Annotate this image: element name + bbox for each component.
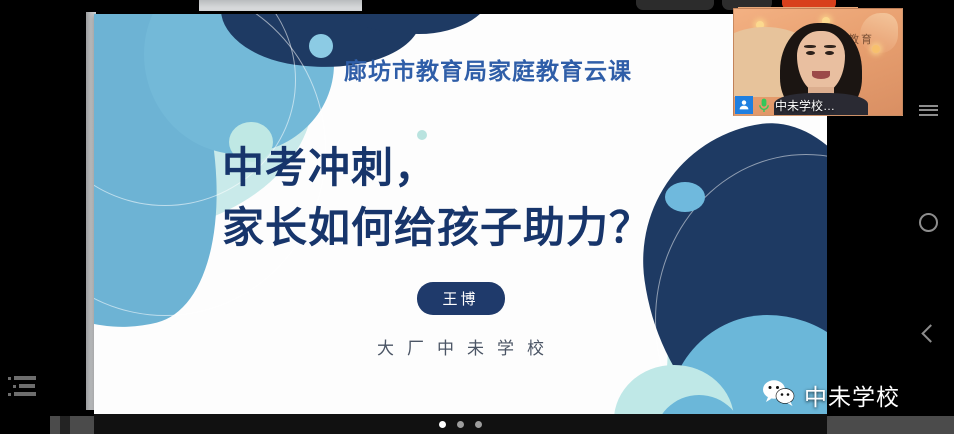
home-icon[interactable] — [913, 207, 943, 237]
presenter-eye-left — [806, 51, 815, 55]
presenter-brow-right — [824, 45, 836, 48]
slide-main-title: 中考冲刺， 家长如何给孩子助力？ — [222, 138, 652, 257]
screen-root: 廊坊市教育局家庭教育云课 中考冲刺， 家长如何给孩子助力？ 王博 大厂中未学校 … — [0, 0, 954, 434]
presentation-slide[interactable]: 廊坊市教育局家庭教育云课 中考冲刺， 家长如何给孩子助力？ 王博 大厂中未学校 — [94, 14, 827, 415]
decor-dot-blue-2 — [665, 182, 705, 212]
school-name: 大厂中未学校 — [364, 334, 557, 359]
person-icon — [735, 96, 753, 114]
recents-icon[interactable] — [913, 95, 943, 125]
slide-canvas: 廊坊市教育局家庭教育云课 中考冲刺， 家长如何给孩子助力？ 王博 大厂中未学校 — [94, 14, 827, 415]
pip-participant-name: 中未学校… — [775, 97, 835, 114]
microphone-icon — [756, 96, 772, 114]
bottom-toolbar-handle[interactable] — [60, 416, 70, 434]
presenter-brow-left — [804, 45, 816, 48]
watermark-label: 中未学校 — [804, 378, 900, 412]
pagination-dot-3[interactable] — [475, 421, 482, 428]
pagination-dot-2[interactable] — [457, 421, 464, 428]
chrome-button-1[interactable] — [636, 0, 714, 10]
wechat-icon — [762, 379, 796, 412]
watermark: 中未学校 — [762, 378, 900, 412]
speaker-name-badge: 王博 — [416, 282, 504, 315]
slide-header-title: 廊坊市教育局家庭教育云课 — [94, 52, 827, 86]
android-nav-bar — [902, 0, 954, 434]
list-icon[interactable] — [8, 372, 38, 400]
presenter-video-thumbnail[interactable]: 廊坊市教育局家庭教育 — [733, 8, 903, 116]
back-icon[interactable] — [913, 318, 943, 348]
pip-label-bar: 中未学校… — [734, 95, 835, 115]
slide-title-line-1: 中考冲刺， — [222, 143, 437, 192]
presenter-eye-right — [825, 51, 834, 55]
slide-pagination[interactable] — [94, 421, 827, 428]
slide-pager-strip — [94, 414, 827, 434]
presenter-mouth — [812, 71, 830, 79]
slide-title-line-2: 家长如何给孩子助力？ — [222, 198, 652, 258]
pagination-dot-1[interactable] — [439, 421, 446, 428]
